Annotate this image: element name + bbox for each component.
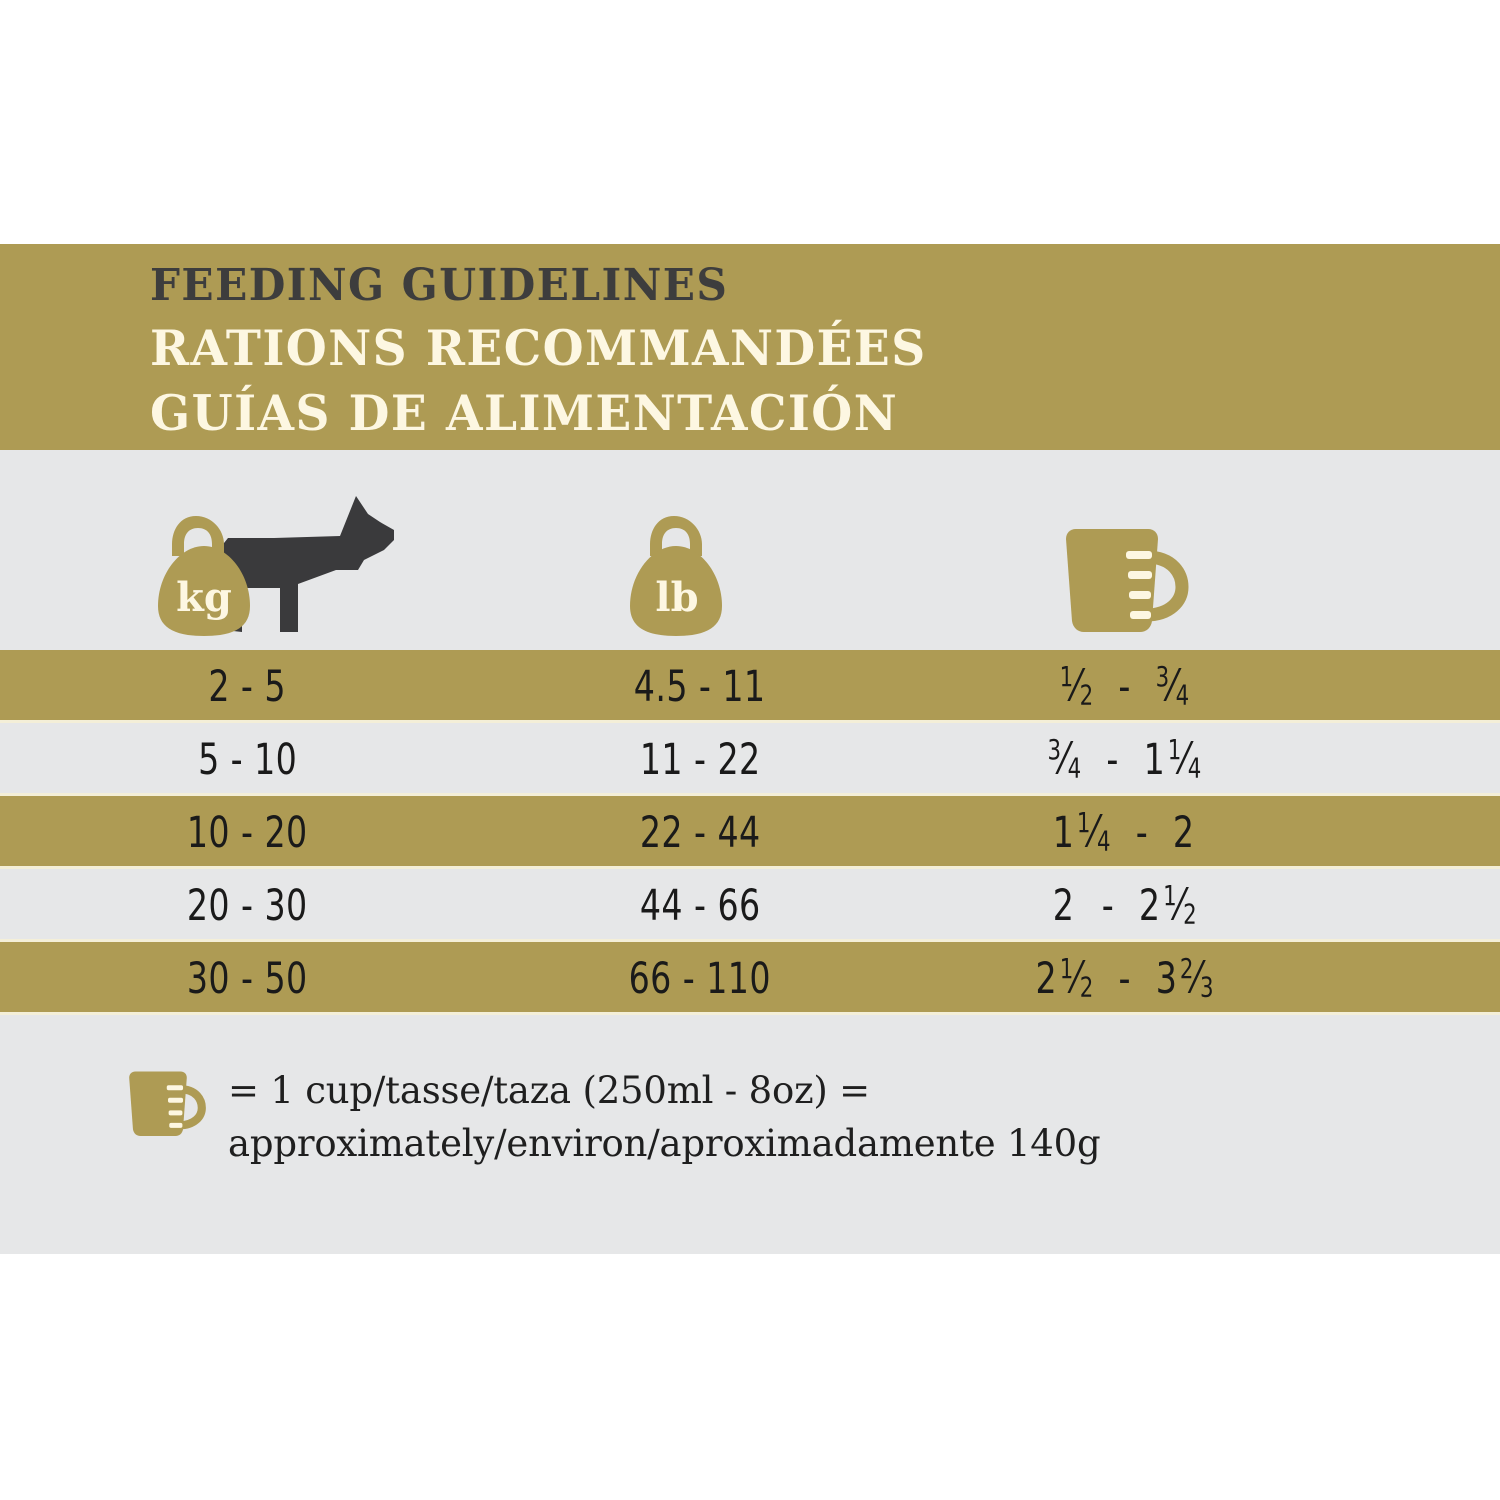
range-dash: -: [1124, 808, 1161, 858]
fraction-to: 11⁄4: [1144, 737, 1202, 783]
cell-cups: 1⁄2 - 3⁄4: [955, 650, 1295, 723]
title-french: RATIONS RECOMMANDÉES: [150, 324, 1446, 373]
fraction-to: 2: [1173, 812, 1197, 855]
fraction-from: 21⁄2: [1036, 956, 1094, 1002]
cell-lb: 22 - 44: [590, 796, 810, 869]
fraction-to: 21⁄2: [1139, 883, 1197, 929]
cell-lb: 66 - 110: [590, 942, 810, 1015]
fraction-from: 2: [1053, 885, 1077, 928]
fraction-from: 1⁄2: [1060, 664, 1094, 710]
table-row: 20 - 30 44 - 66 2 - 21⁄2: [0, 869, 1500, 942]
cell-lb: 4.5 - 11: [590, 650, 810, 723]
weight-kg-label: kg: [176, 574, 232, 621]
weight-lb-label: lb: [655, 574, 698, 621]
table-row: 2 - 5 4.5 - 11 1⁄2 - 3⁄4: [0, 650, 1500, 723]
measuring-cup-icon: [118, 1069, 208, 1146]
table-row: 10 - 20 22 - 44 11⁄4 - 2: [0, 796, 1500, 869]
feeding-guidelines-card: FEEDING GUIDELINES RATIONS RECOMMANDÉES …: [0, 244, 1500, 1254]
cell-kg: 20 - 30: [140, 869, 355, 942]
cell-lb: 11 - 22: [590, 723, 810, 796]
footnote-area: = 1 cup/tasse/taza (250ml - 8oz) = appro…: [0, 1015, 1500, 1254]
fraction-to: 32⁄3: [1156, 956, 1214, 1002]
feeding-guidelines-panel: FEEDING GUIDELINES RATIONS RECOMMANDÉES …: [0, 0, 1500, 1500]
table-row: 5 - 10 11 - 22 3⁄4 - 11⁄4: [0, 723, 1500, 796]
column-icon-band: kg lb: [0, 450, 1500, 650]
cell-cups: 3⁄4 - 11⁄4: [955, 723, 1295, 796]
header-band: FEEDING GUIDELINES RATIONS RECOMMANDÉES …: [0, 244, 1500, 450]
cell-kg: 5 - 10: [140, 723, 355, 796]
column-header-cup: [1050, 450, 1250, 650]
cell-cups: 11⁄4 - 2: [955, 796, 1295, 869]
range-dash: -: [1090, 881, 1127, 931]
cell-lb: 44 - 66: [590, 869, 810, 942]
footnote-text: = 1 cup/tasse/taza (250ml - 8oz) = appro…: [118, 1065, 1358, 1170]
cell-cups: 21⁄2 - 32⁄3: [955, 942, 1295, 1015]
footnote-row: = 1 cup/tasse/taza (250ml - 8oz) = appro…: [118, 1065, 1358, 1170]
fraction-from: 3⁄4: [1048, 737, 1082, 783]
range-dash: -: [1095, 735, 1132, 785]
fraction-from: 11⁄4: [1053, 810, 1111, 856]
range-dash: -: [1107, 662, 1144, 712]
cell-cups: 2 - 21⁄2: [955, 869, 1295, 942]
weight-kg-icon: kg: [150, 510, 270, 645]
range-dash: -: [1107, 954, 1144, 1004]
cell-kg: 10 - 20: [140, 796, 355, 869]
cell-kg: 30 - 50: [140, 942, 355, 1015]
weight-lb-icon: lb: [620, 510, 740, 645]
column-header-lb: lb: [620, 450, 800, 650]
column-header-kg: kg: [150, 450, 450, 650]
feeding-table: 2 - 5 4.5 - 11 1⁄2 - 3⁄4 5 - 10 11 - 22 …: [0, 650, 1500, 1015]
measuring-cup-icon: [1050, 525, 1190, 645]
title-spanish: GUÍAS DE ALIMENTACIÓN: [150, 389, 1446, 438]
title-english: FEEDING GUIDELINES: [150, 264, 1446, 308]
table-row: 30 - 50 66 - 110 21⁄2 - 32⁄3: [0, 942, 1500, 1015]
fraction-to: 3⁄4: [1156, 664, 1190, 710]
cell-kg: 2 - 5: [140, 650, 355, 723]
